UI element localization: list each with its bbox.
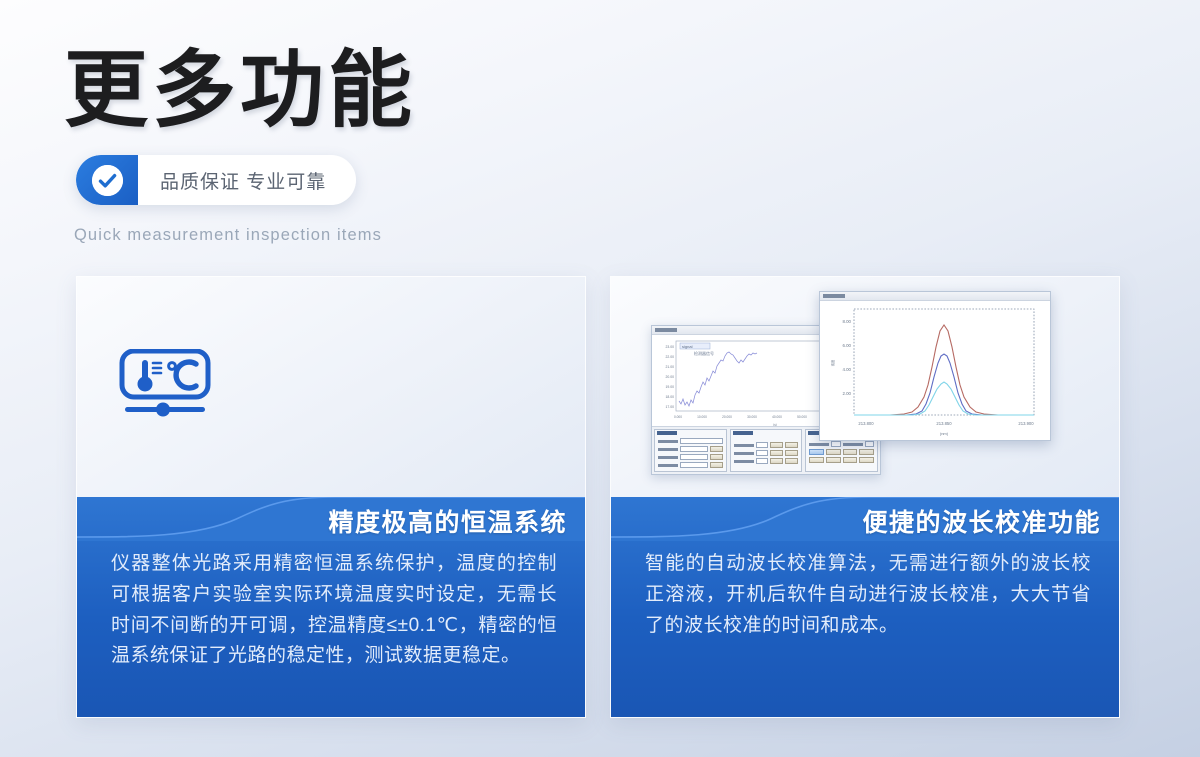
field-label xyxy=(734,452,754,455)
svg-text:213.900: 213.900 xyxy=(1018,421,1034,426)
svg-text:20.00: 20.00 xyxy=(666,375,675,379)
stop-button[interactable] xyxy=(826,449,841,455)
group-label-gas xyxy=(733,431,753,435)
input-field[interactable] xyxy=(680,438,723,444)
svg-text:17.00: 17.00 xyxy=(666,405,675,409)
thermometer-celsius-icon xyxy=(119,349,211,419)
group-label-sample xyxy=(657,431,677,435)
page-title: 更多功能 xyxy=(64,50,416,134)
card-media-left xyxy=(77,277,585,497)
svg-text:213.850: 213.850 xyxy=(936,421,952,426)
card-title-left: 精度极高的恒温系统 xyxy=(328,499,567,543)
svg-text:22.00: 22.00 xyxy=(666,355,675,359)
field-label xyxy=(809,443,829,446)
field-label xyxy=(658,440,678,443)
input-field[interactable] xyxy=(680,462,708,468)
field-label xyxy=(658,456,678,459)
svg-text:6.00: 6.00 xyxy=(842,343,851,348)
reset-button[interactable] xyxy=(785,442,798,448)
poster-root: 更多功能 品质保证 专业可靠 Quick measurement inspect… xyxy=(0,0,1200,757)
page-subtitle: Quick measurement inspection items xyxy=(74,226,382,245)
input-field[interactable] xyxy=(756,450,769,456)
field-label xyxy=(658,464,678,467)
control-group-sample[interactable] xyxy=(654,429,727,472)
badge-label: 品质保证 专业可靠 xyxy=(138,155,356,205)
check-circle-inner xyxy=(92,165,123,196)
svg-text:20.000: 20.000 xyxy=(722,415,732,419)
svg-text:4.00: 4.00 xyxy=(842,367,851,372)
svg-text:0.000: 0.000 xyxy=(674,415,682,419)
browse-button[interactable] xyxy=(710,454,723,460)
control-group-gas[interactable] xyxy=(730,429,803,472)
input-field[interactable] xyxy=(680,454,708,460)
svg-text:强度: 强度 xyxy=(830,359,835,366)
feature-card-constant-temperature[interactable]: 精度极高的恒温系统 仪器整体光路采用精密恒温系统保护，温度的控制可根据客户实验室… xyxy=(76,276,586,718)
save-button[interactable] xyxy=(843,449,858,455)
wavelength-peak-chart: 8.00 6.00 4.00 2.00 强度 213.800 213.850 2… xyxy=(820,301,1050,440)
field-label xyxy=(734,444,754,447)
card-title-right: 便捷的波长校准功能 xyxy=(862,499,1101,543)
input-field[interactable] xyxy=(865,441,874,447)
export-button[interactable] xyxy=(859,449,874,455)
svg-text:检测器信号: 检测器信号 xyxy=(694,350,714,356)
svg-text:19.00: 19.00 xyxy=(666,385,675,389)
svg-text:30.000: 30.000 xyxy=(747,415,757,419)
input-field[interactable] xyxy=(756,458,769,464)
svg-text:50.000: 50.000 xyxy=(797,415,807,419)
start-button[interactable] xyxy=(809,449,824,455)
svg-text:10.000: 10.000 xyxy=(697,415,707,419)
svg-text:213.800: 213.800 xyxy=(858,421,874,426)
field-label xyxy=(843,443,863,446)
browse-button[interactable] xyxy=(710,446,723,452)
svg-text:2.00: 2.00 xyxy=(842,391,851,396)
svg-text:8.00: 8.00 xyxy=(842,319,851,324)
reset-button[interactable] xyxy=(785,450,798,456)
quality-badge: 品质保证 专业可靠 xyxy=(76,155,356,205)
browse-button[interactable] xyxy=(710,462,723,468)
card-description-right: 智能的自动波长校准算法，无需进行额外的波长校正溶液，开机后软件自动进行波长校准，… xyxy=(645,549,1091,641)
input-field[interactable] xyxy=(831,441,840,447)
svg-text:40.000: 40.000 xyxy=(772,415,782,419)
check-circle-icon xyxy=(76,155,138,205)
reset-button[interactable] xyxy=(785,458,798,464)
input-field[interactable] xyxy=(680,446,708,452)
feature-card-wavelength-calibration[interactable]: signal 检测器信号 23.0022.00 21.0020.00 19.00… xyxy=(610,276,1120,718)
apply-button[interactable] xyxy=(770,458,783,464)
apply-button[interactable] xyxy=(770,442,783,448)
svg-text:18.00: 18.00 xyxy=(666,395,675,399)
svg-text:signal: signal xyxy=(682,344,693,349)
apply-button[interactable] xyxy=(770,450,783,456)
input-field[interactable] xyxy=(756,442,769,448)
card-description-left: 仪器整体光路采用精密恒温系统保护，温度的控制可根据客户实验室实际环境温度实时设定… xyxy=(111,549,557,672)
card-media-right: signal 检测器信号 23.0022.00 21.0020.00 19.00… xyxy=(611,277,1119,497)
report-button[interactable] xyxy=(843,457,858,463)
field-label xyxy=(658,448,678,451)
svg-text:21.00: 21.00 xyxy=(666,365,675,369)
spectrum-window-titlebar xyxy=(820,292,1050,301)
settings-button[interactable] xyxy=(826,457,841,463)
exit-button[interactable] xyxy=(859,457,874,463)
svg-text:23.00: 23.00 xyxy=(666,345,675,349)
field-label xyxy=(734,460,754,463)
software-window-spectrum[interactable]: 8.00 6.00 4.00 2.00 强度 213.800 213.850 2… xyxy=(819,291,1051,441)
calibrate-button[interactable] xyxy=(809,457,824,463)
svg-text:(nm): (nm) xyxy=(940,431,949,436)
